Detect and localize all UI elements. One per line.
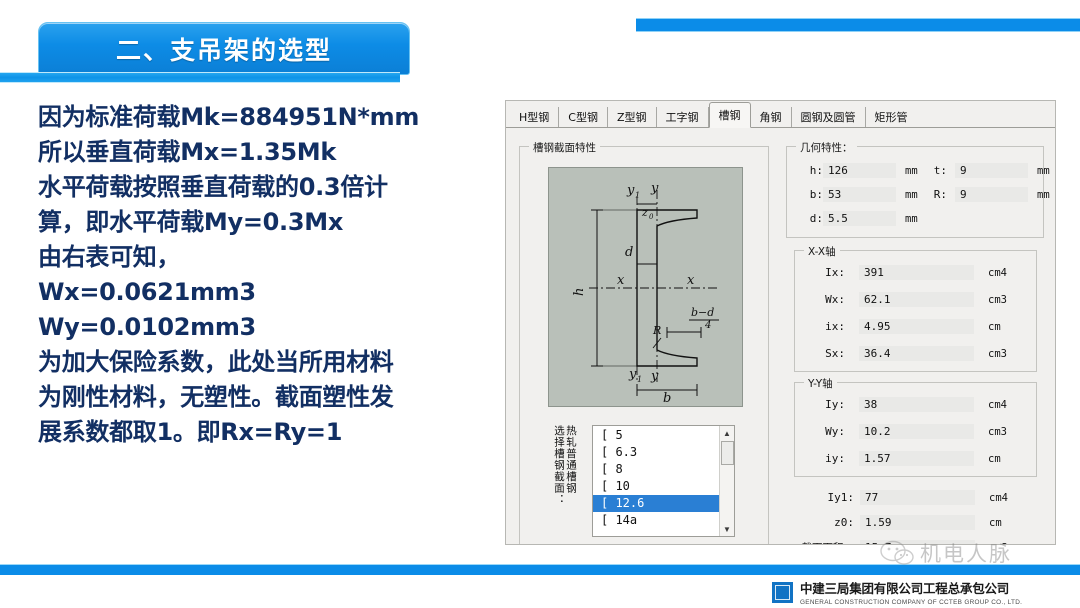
footer-accent-bar: [0, 564, 1080, 575]
geometry-group-title: 几何特性：: [796, 140, 857, 155]
list-item[interactable]: [ 6.3: [593, 444, 719, 461]
field-value-ix[interactable]: 4.95: [859, 319, 974, 334]
slide-body-text: 因为标准荷载Mk=884951N*mm 所以垂直荷载Mx=1.35Mk 水平荷载…: [38, 100, 508, 450]
geometry-row-d: d: 5.5 mm: [797, 211, 929, 226]
field-value-b[interactable]: 53: [823, 187, 896, 202]
scrollbar-thumb[interactable]: [721, 441, 734, 465]
xx-row-Sx: Sx: 36.4 cm3: [807, 346, 1007, 361]
diagram-label-y1-bottom: y: [628, 367, 637, 382]
diagram-label-y-bottom: y: [650, 369, 659, 384]
body-line: 展系数都取1。即Rx=Ry=1: [38, 415, 508, 450]
summary-row-Iy1: Iy1: 77 cm4: [794, 490, 1008, 505]
svg-text:1: 1: [635, 191, 640, 200]
field-label-h: h:: [797, 164, 823, 177]
field-unit-iy: cm: [974, 453, 1001, 465]
field-unit-area: cm2: [975, 542, 1008, 546]
diagram-label-b: b: [663, 391, 671, 406]
field-label-Wy: Wy:: [807, 425, 845, 438]
body-line: 算，即水平荷载My=0.3Mx: [38, 205, 508, 240]
diagram-label-h: h: [572, 288, 587, 296]
geometry-property-group: 几何特性： h: 126 mm t: 9 mm b: 53 mm R: 9 mm: [786, 146, 1044, 238]
yy-row-iy: iy: 1.57 cm: [807, 451, 1001, 466]
field-label-d: d:: [797, 212, 823, 225]
field-value-h[interactable]: 126: [823, 163, 896, 178]
field-label-ix: ix:: [807, 320, 845, 333]
field-label-t: t:: [929, 164, 947, 177]
profile-type-tab-strip: H型钢 C型钢 Z型钢 工字钢 槽钢 角钢 圆钢及圆管 矩形管: [506, 101, 1055, 128]
body-line: Wy=0.0102mm3: [38, 310, 508, 345]
listbox-vertical-labels: 热轧普通槽钢 选择槽钢截面：: [553, 425, 576, 537]
yy-axis-group-title: Y-Y轴: [804, 376, 837, 391]
field-value-z0[interactable]: 1.59: [860, 515, 975, 530]
field-unit-Iy: cm4: [974, 399, 1007, 411]
section-group-title: 槽钢截面特性: [529, 140, 600, 155]
yy-axis-group: Y-Y轴 Iy: 38 cm4 Wy: 10.2 cm3 iy: 1.57 cm: [794, 382, 1037, 477]
xx-row-ix: ix: 4.95 cm: [807, 319, 1001, 334]
company-name-cn: 中建三局集团有限公司工程总承包公司: [800, 578, 1022, 597]
field-label-z0: z0:: [794, 516, 854, 529]
list-item[interactable]: [ 10: [593, 478, 719, 495]
steel-profile-app-window: H型钢 C型钢 Z型钢 工字钢 槽钢 角钢 圆钢及圆管 矩形管 槽钢截面特性: [505, 100, 1056, 545]
list-vertical-label-prompt: 选择槽钢截面：: [553, 425, 564, 506]
diagram-label-d: d: [625, 245, 633, 260]
triangle-down-icon[interactable]: ▼: [720, 522, 734, 536]
channel-steel-panel: 槽钢截面特性: [506, 128, 1055, 544]
diagram-label-R: R: [652, 324, 661, 337]
svg-text:0: 0: [649, 213, 654, 221]
field-label-R: R:: [929, 188, 947, 201]
slide-canvas: 二、支吊架的选型 因为标准荷载Mk=884951N*mm 所以垂直荷载Mx=1.…: [0, 0, 1080, 608]
tab-c-steel[interactable]: C型钢: [559, 107, 608, 127]
body-line: 水平荷载按照垂直荷载的0.3倍计: [38, 170, 508, 205]
channel-size-listbox[interactable]: [ 5 [ 6.3 [ 8 [ 10 [ 12.6 [ 14a ▲ ▼: [592, 425, 735, 537]
diagram-label-x-right: x: [687, 273, 695, 288]
top-accent-bar: [636, 18, 1080, 32]
svg-text:1: 1: [637, 375, 642, 384]
tab-z-steel[interactable]: Z型钢: [608, 107, 657, 127]
company-logo-block: 中建三局集团有限公司工程总承包公司 GENERAL CONSTRUCTION C…: [772, 578, 1022, 606]
tab-round-steel-pipe[interactable]: 圆钢及圆管: [792, 107, 866, 127]
field-value-Wy[interactable]: 10.2: [859, 424, 974, 439]
yy-row-Wy: Wy: 10.2 cm3: [807, 424, 1007, 439]
field-value-d[interactable]: 5.5: [823, 211, 896, 226]
field-value-R[interactable]: 9: [955, 187, 1028, 202]
field-label-Iy1: Iy1:: [794, 491, 854, 504]
list-item[interactable]: [ 8: [593, 461, 719, 478]
company-name-en: GENERAL CONSTRUCTION COMPANY OF CCTEB GR…: [800, 599, 1022, 606]
field-unit-Wx: cm3: [974, 294, 1007, 306]
xx-axis-group: X-X轴 Ix: 391 cm4 Wx: 62.1 cm3 ix: 4.95 c…: [794, 250, 1037, 372]
geometry-row-h: h: 126 mm t: 9 mm: [797, 163, 1056, 178]
slide-title-banner: 二、支吊架的选型: [38, 22, 410, 75]
field-unit-t: mm: [1028, 165, 1056, 177]
list-vertical-label-type: 热轧普通槽钢: [565, 425, 576, 494]
listbox-scrollbar[interactable]: ▲ ▼: [719, 426, 734, 536]
body-line: 因为标准荷载Mk=884951N*mm: [38, 100, 508, 135]
section-property-group: 槽钢截面特性: [519, 146, 769, 545]
triangle-up-icon[interactable]: ▲: [720, 426, 734, 440]
channel-size-list[interactable]: [ 5 [ 6.3 [ 8 [ 10 [ 12.6 [ 14a: [593, 426, 719, 536]
field-unit-Iy1: cm4: [975, 492, 1008, 504]
field-value-area[interactable]: 15.7: [860, 540, 975, 545]
company-name-stack: 中建三局集团有限公司工程总承包公司 GENERAL CONSTRUCTION C…: [800, 578, 1022, 606]
field-label-Iy: Iy:: [807, 398, 845, 411]
diagram-label-4: 4: [704, 320, 711, 331]
field-unit-h: mm: [896, 165, 929, 177]
field-unit-Wy: cm3: [974, 426, 1007, 438]
channel-profile-drawing: y 1 y z 0 d x x h R 4 b−d: [549, 168, 743, 407]
geometry-row-b: b: 53 mm R: 9 mm: [797, 187, 1056, 202]
field-label-b: b:: [797, 188, 823, 201]
xx-row-Ix: Ix: 391 cm4: [807, 265, 1007, 280]
tab-h-steel[interactable]: H型钢: [510, 107, 559, 127]
diagram-label-y: y: [650, 181, 659, 196]
field-label-Ix: Ix:: [807, 266, 845, 279]
field-value-t[interactable]: 9: [955, 163, 1028, 178]
xx-axis-group-title: X-X轴: [804, 244, 840, 259]
field-unit-d: mm: [896, 213, 929, 225]
diagram-label-z0: z: [641, 206, 648, 219]
tab-channel-steel[interactable]: 槽钢: [709, 102, 751, 128]
summary-row-area: 截面面积： 15.7 cm2: [794, 540, 1008, 545]
body-line: 为加大保险系数，此处当所用材料: [38, 345, 508, 380]
field-value-Wx[interactable]: 62.1: [859, 292, 974, 307]
field-unit-ix: cm: [974, 321, 1001, 333]
diagram-label-b-minus-d: b−d: [691, 306, 714, 319]
diagram-label-x-left: x: [617, 273, 625, 288]
field-value-Iy1[interactable]: 77: [860, 490, 975, 505]
field-label-area: 截面面积：: [794, 540, 854, 545]
summary-row-z0: z0: 1.59 cm: [794, 515, 1002, 530]
field-label-Sx: Sx:: [807, 347, 845, 360]
body-line: 所以垂直荷载Mx=1.35Mk: [38, 135, 508, 170]
body-line: Wx=0.0621mm3: [38, 275, 508, 310]
diagram-label-y1: y: [626, 183, 635, 198]
field-unit-R: mm: [1028, 189, 1056, 201]
xx-row-Wx: Wx: 62.1 cm3: [807, 292, 1007, 307]
yy-row-Iy: Iy: 38 cm4: [807, 397, 1007, 412]
field-value-Iy[interactable]: 38: [859, 397, 974, 412]
field-value-iy[interactable]: 1.57: [859, 451, 974, 466]
tab-angle-steel[interactable]: 角钢: [751, 107, 792, 127]
field-unit-Ix: cm4: [974, 267, 1007, 279]
list-item[interactable]: [ 14a: [593, 512, 719, 529]
title-underline-bar: [0, 72, 400, 83]
body-line: 为刚性材料，无塑性。截面塑性发: [38, 380, 508, 415]
tab-i-beam[interactable]: 工字钢: [657, 107, 709, 127]
field-unit-b: mm: [896, 189, 929, 201]
list-item[interactable]: [ 5: [593, 427, 719, 444]
field-label-iy: iy:: [807, 452, 845, 465]
page-title: 二、支吊架的选型: [116, 31, 332, 67]
field-unit-Sx: cm3: [974, 348, 1007, 360]
cctebgroup-logo-icon: [772, 582, 793, 603]
channel-section-diagram: y 1 y z 0 d x x h R 4 b−d: [548, 167, 743, 407]
tab-rectangular-pipe[interactable]: 矩形管: [866, 107, 917, 127]
list-item-selected[interactable]: [ 12.6: [593, 495, 719, 512]
body-line: 由右表可知，: [38, 240, 508, 275]
field-value-Sx[interactable]: 36.4: [859, 346, 974, 361]
field-label-Wx: Wx:: [807, 293, 845, 306]
field-unit-z0: cm: [975, 517, 1002, 529]
field-value-Ix[interactable]: 391: [859, 265, 974, 280]
